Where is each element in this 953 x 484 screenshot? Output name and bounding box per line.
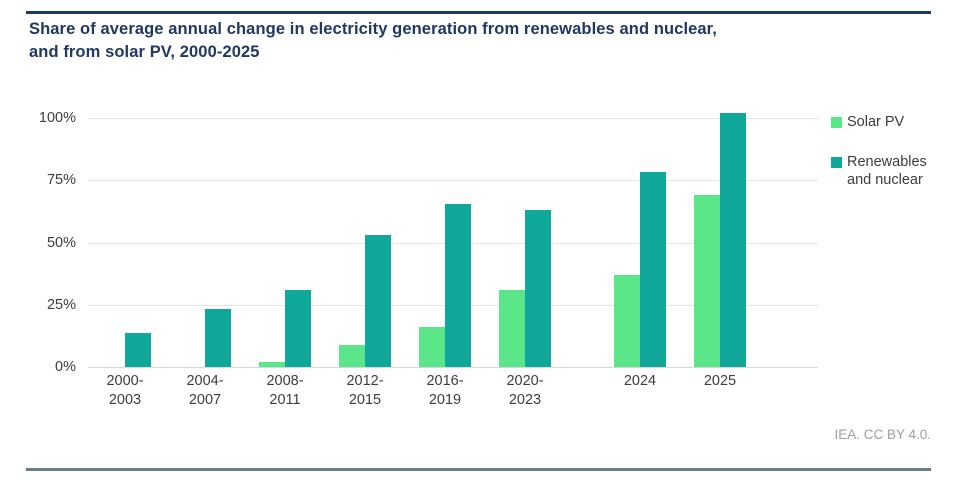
x-axis-tick-line-1: 2025 [704, 373, 736, 389]
bar-solar-pv[interactable] [419, 327, 445, 367]
legend-label-renewables-line-2: and nuclear [847, 172, 923, 188]
y-axis-tick-label: 75% [16, 172, 76, 188]
bar-renewables-nuclear[interactable] [445, 204, 471, 367]
y-axis-tick-label: 50% [16, 235, 76, 251]
gridline-0%: 0% [88, 367, 818, 368]
x-axis-tick-line-1: 2024 [624, 373, 656, 389]
x-axis-tick-line-2: 2019 [429, 392, 461, 408]
x-axis-tick-label: 2008-2011 [266, 372, 303, 410]
y-axis-tick-label: 100% [16, 110, 76, 126]
x-axis-tick-label: 2004-2007 [186, 372, 223, 410]
y-axis-tick-label: 0% [16, 359, 76, 375]
x-axis-tick-line-1: 2008- [266, 373, 303, 389]
bar-solar-pv[interactable] [694, 195, 720, 367]
bar-renewables-nuclear[interactable] [525, 210, 551, 367]
x-axis-tick-label: 2016-2019 [426, 372, 463, 410]
x-axis-tick-line-1: 2000- [106, 373, 143, 389]
legend-item-renewables[interactable]: Renewablesand nuclear [831, 153, 951, 189]
bar-solar-pv[interactable] [614, 275, 640, 367]
x-axis-tick-line-2: 2003 [109, 392, 141, 408]
bar-renewables-nuclear[interactable] [365, 235, 391, 367]
legend-label-renewables: Renewablesand nuclear [847, 153, 927, 189]
bar-group [419, 118, 471, 367]
legend-swatch-solar-pv [831, 117, 842, 128]
bottom-divider-rule [26, 468, 931, 471]
x-axis-tick-line-2: 2023 [509, 392, 541, 408]
y-axis-tick-label: 25% [16, 297, 76, 313]
x-axis-tick-line-1: 2012- [346, 373, 383, 389]
x-axis-tick-line-2: 2015 [349, 392, 381, 408]
x-axis-tick-label: 2000-2003 [106, 372, 143, 410]
x-axis-tick-line-1: 2004- [186, 373, 223, 389]
bar-renewables-nuclear[interactable] [125, 333, 151, 367]
chart-figure: Share of average annual change in electr… [0, 0, 953, 484]
x-axis-tick-line-2: 2011 [269, 392, 300, 408]
chart-title: Share of average annual change in electr… [29, 18, 909, 64]
bar-group [179, 118, 231, 367]
legend-swatch-renewables [831, 157, 842, 168]
x-axis-tick-label: 2020-2023 [506, 372, 543, 410]
bar-group [614, 118, 666, 367]
bar-solar-pv[interactable] [499, 290, 525, 367]
bar-solar-pv[interactable] [339, 345, 365, 367]
chart-legend: Solar PV Renewablesand nuclear [831, 113, 951, 211]
x-axis-tick-label: 2025 [704, 372, 736, 391]
top-divider-rule [26, 11, 931, 14]
attribution-credit: IEA. CC BY 4.0. [834, 427, 931, 442]
bar-renewables-nuclear[interactable] [720, 113, 746, 367]
legend-label-solar-pv: Solar PV [847, 113, 904, 131]
legend-item-solar-pv[interactable]: Solar PV [831, 113, 951, 131]
bar-solar-pv[interactable] [259, 362, 285, 367]
x-axis-tick-line-2: 2007 [189, 392, 221, 408]
bar-group [339, 118, 391, 367]
bar-renewables-nuclear[interactable] [640, 172, 666, 367]
chart-title-line-1: Share of average annual change in electr… [29, 18, 909, 41]
chart-title-line-2: and from solar PV, 2000-2025 [29, 41, 909, 64]
bar-groups [88, 118, 818, 367]
bar-group [99, 118, 151, 367]
x-axis-tick-label: 2012-2015 [346, 372, 383, 410]
bar-group [499, 118, 551, 367]
x-axis-tick-line-1: 2016- [426, 373, 463, 389]
bar-renewables-nuclear[interactable] [205, 309, 231, 368]
x-axis-labels: 2000-20032004-20072008-20112012-20152016… [88, 372, 818, 422]
plot-area: 0%25%50%75%100% [88, 118, 818, 367]
bar-group [694, 118, 746, 367]
x-axis-tick-label: 2024 [624, 372, 656, 391]
x-axis-tick-line-1: 2020- [506, 373, 543, 389]
bar-group [259, 118, 311, 367]
bar-renewables-nuclear[interactable] [285, 290, 311, 367]
legend-label-renewables-line-1: Renewables [847, 154, 927, 170]
